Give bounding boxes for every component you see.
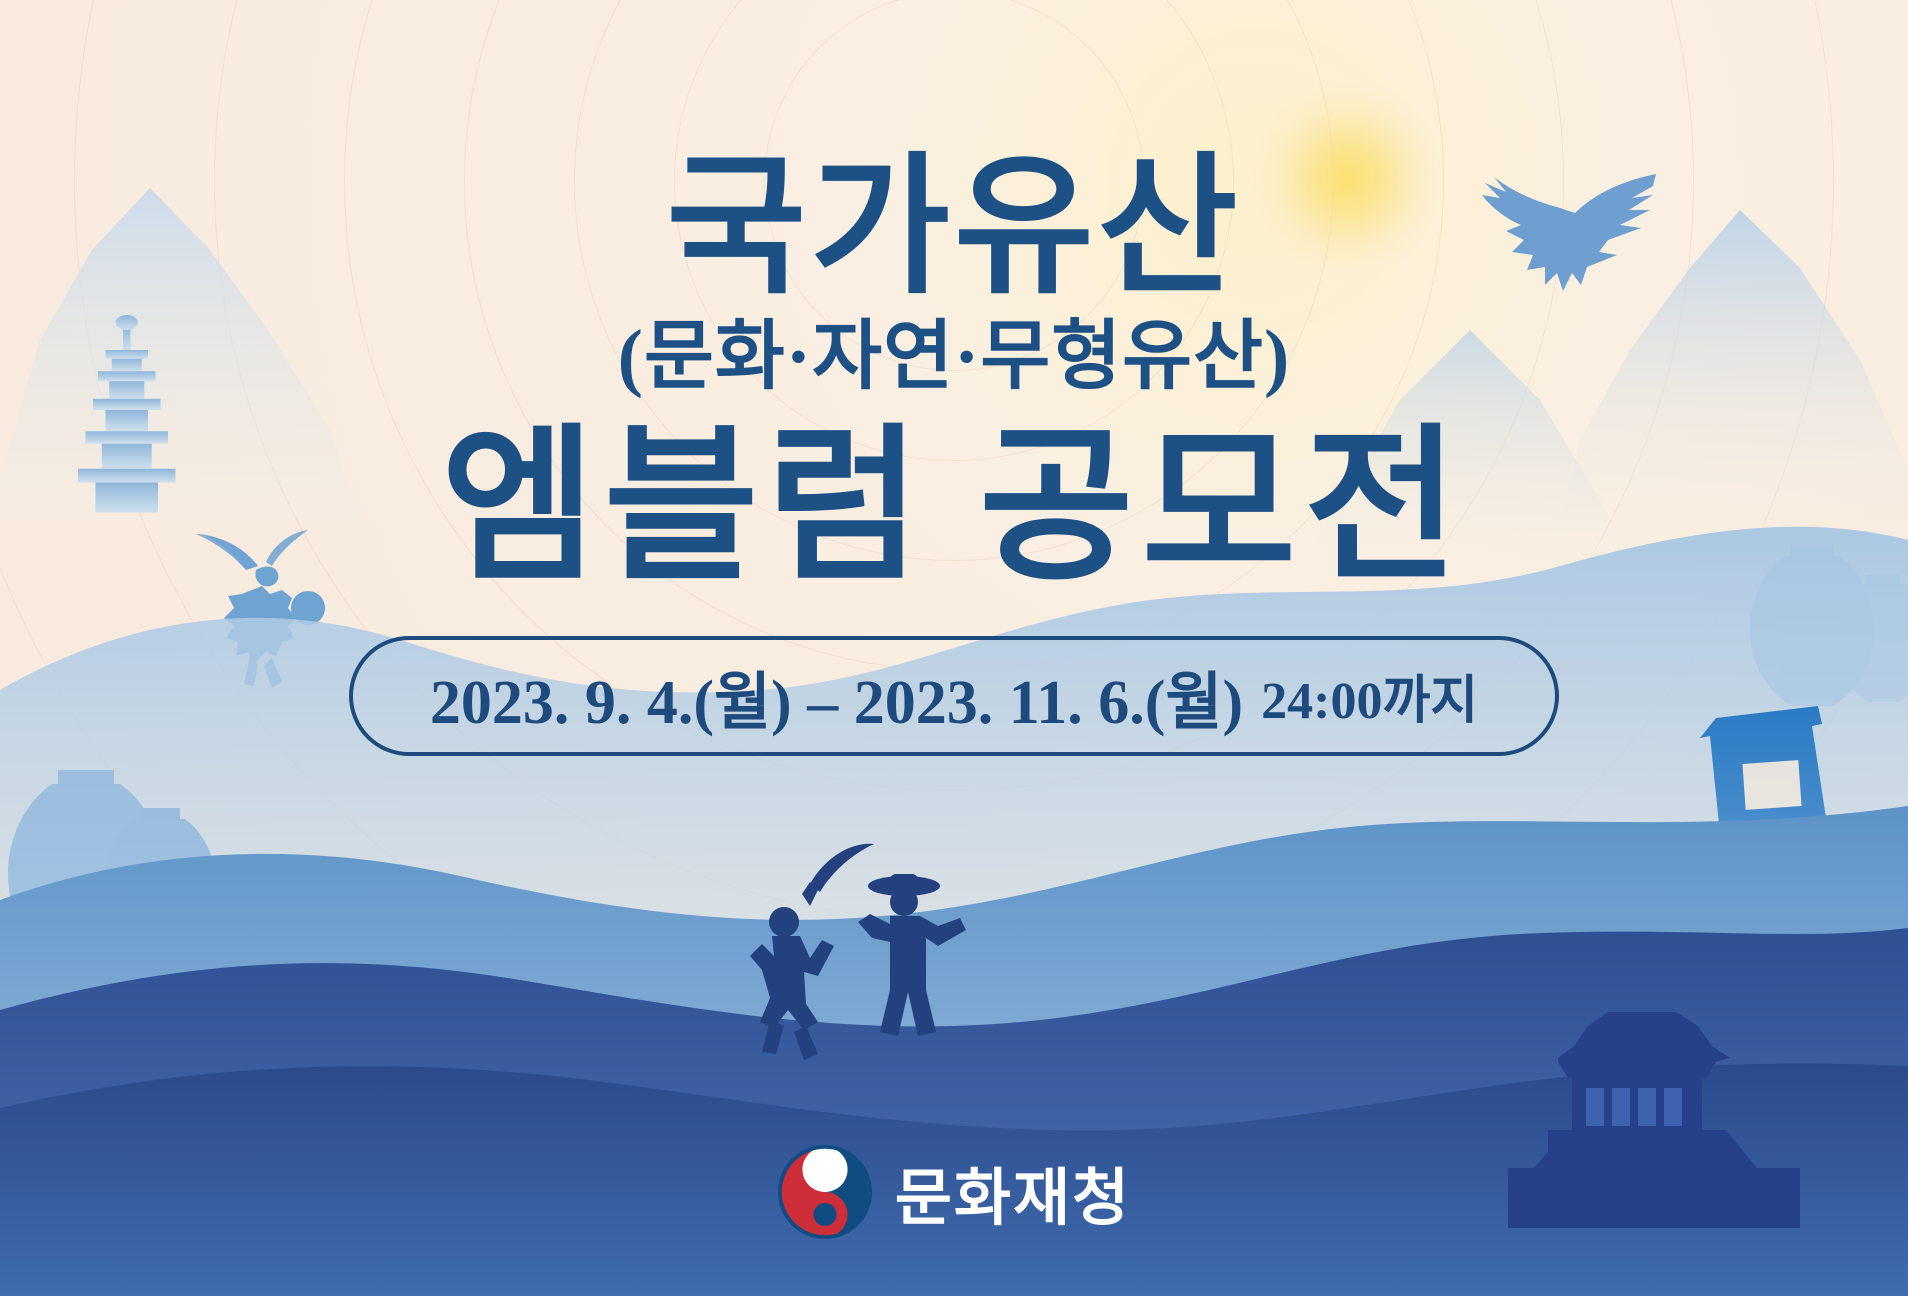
page-subtitle: (문화·자연·무형유산): [618, 318, 1291, 398]
date-range-text: 2023. 9. 4.(월) – 2023. 11. 6.(월): [430, 651, 1243, 741]
taegeuk-icon: [777, 1144, 873, 1240]
page-title: 국가유산: [666, 152, 1241, 304]
poster-canvas: 국가유산 (문화·자연·무형유산) 엠블럼 공모전 2023. 9. 4.(월)…: [0, 0, 1908, 1296]
event-title: 엠블럼 공모전: [441, 424, 1466, 592]
poster-text-content: 국가유산 (문화·자연·무형유산) 엠블럼 공모전 2023. 9. 4.(월)…: [0, 0, 1908, 1296]
date-deadline-text: 24:00까지: [1261, 658, 1478, 733]
agency-logo: 문화재청: [0, 1144, 1908, 1240]
date-range-badge: 2023. 9. 4.(월) – 2023. 11. 6.(월) 24:00까지: [349, 636, 1559, 756]
agency-name-label: 문화재청: [895, 1147, 1131, 1237]
